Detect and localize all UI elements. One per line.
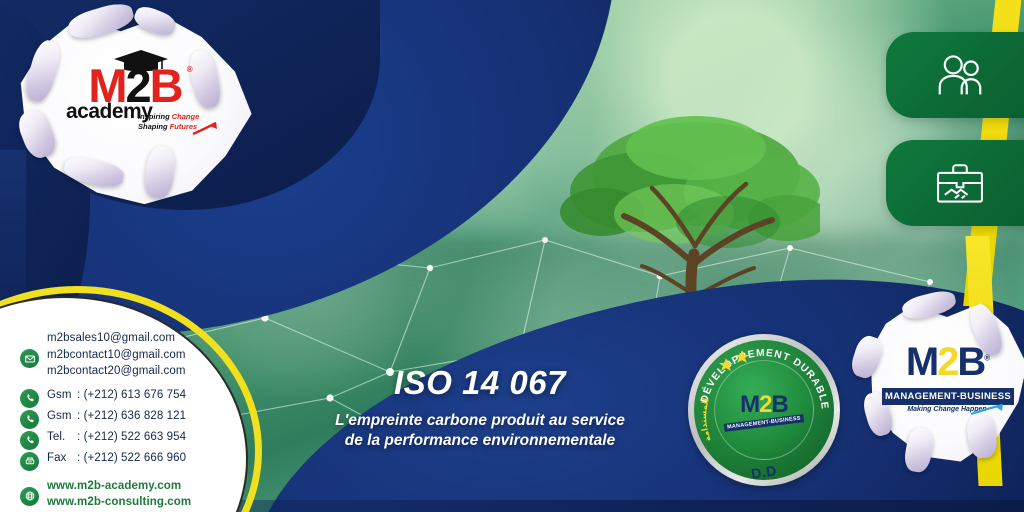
phone-text-3: Tel.: (+212) 522 663 954 (47, 429, 186, 446)
seal-brand: M2B MANAGEMENT-BUSINESS (724, 393, 804, 427)
fax-label: Fax (47, 450, 77, 467)
email-2[interactable]: m2bcontact10@gmail.com (47, 347, 186, 364)
registered-mark: ® (187, 66, 191, 74)
fax-sep: : (77, 452, 80, 464)
seal-letter-m: M (740, 391, 759, 418)
management-brand-text: M2B® (862, 342, 1024, 382)
fax-icon (20, 452, 39, 471)
academy-letter-b: B (150, 59, 182, 112)
phone-label-2: Gsm (47, 408, 77, 425)
academy-tagline-line-1: Inspiring Change (138, 112, 199, 122)
envelope-icon (20, 349, 39, 368)
sustainability-seal: DÉVELOPPEMENT DURABLE التنمية المستدامة … (688, 334, 840, 486)
fax-text: Fax: (+212) 522 666 960 (47, 450, 186, 467)
tagline-highlight-1: Change (172, 112, 200, 121)
phone-row-2: Gsm: (+212) 636 828 121 (20, 408, 270, 429)
phone-icon (20, 389, 39, 408)
arrow-icon (192, 122, 218, 136)
people-icon (933, 52, 987, 98)
mgmt-letter-b: B (957, 340, 984, 384)
phone-value-1[interactable]: (+212) 613 676 754 (84, 389, 187, 401)
phone-text-2: Gsm: (+212) 636 828 121 (47, 408, 186, 425)
mgmt-letter-2: 2 (937, 340, 957, 384)
torn-paper-sheet (862, 300, 1024, 470)
phone-sep-3: : (77, 431, 80, 443)
academy-logo: M2B® academy Inspiring Change Shaping Fu… (16, 14, 254, 206)
seal-letter-2: 2 (759, 391, 771, 418)
mgmt-letter-m: M (906, 340, 937, 384)
websites-row: www.m2b-academy.com www.m2b-consulting.c… (20, 478, 270, 511)
email-list: m2bsales10@gmail.com m2bcontact10@gmail.… (47, 330, 186, 380)
fax-value[interactable]: (+212) 522 666 960 (84, 452, 187, 464)
people-tab[interactable] (886, 32, 1024, 118)
spacer (20, 471, 270, 478)
globe-icon (20, 487, 39, 506)
page-title: ISO 14 067 (300, 364, 660, 402)
phone-icon (20, 431, 39, 450)
phone-value-3[interactable]: (+212) 522 663 954 (84, 431, 187, 443)
phone-value-2[interactable]: (+212) 636 828 121 (84, 410, 187, 422)
banner: m2bsales10@gmail.com m2bcontact10@gmail.… (0, 0, 1024, 512)
seal-inner-disc: M2B MANAGEMENT-BUSINESS (714, 360, 814, 460)
seal-letter-b: B (772, 391, 788, 418)
email-3[interactable]: m2bcontact20@gmail.com (47, 363, 186, 380)
email-1[interactable]: m2bsales10@gmail.com (47, 330, 186, 347)
page-subtitle: L'empreinte carbone produit au service d… (300, 411, 660, 451)
subtitle-line-2: de la performance environnementale (300, 431, 660, 451)
headline-block: ISO 14 067 L'empreinte carbone produit a… (300, 364, 660, 451)
fax-row: Fax: (+212) 522 666 960 (20, 450, 270, 471)
subtitle-line-1: L'empreinte carbone produit au service (300, 411, 660, 431)
management-logo: M2B® MANAGEMENT-BUSINESS Making Change H… (862, 300, 1024, 470)
website-list: www.m2b-academy.com www.m2b-consulting.c… (47, 478, 191, 511)
contact-emails-row: m2bsales10@gmail.com m2bcontact10@gmail.… (20, 330, 270, 380)
website-2[interactable]: www.m2b-consulting.com (47, 494, 191, 511)
academy-tagline-line-2: Shaping Futures (138, 122, 199, 132)
management-bar-text: MANAGEMENT-BUSINESS (882, 388, 1014, 405)
phone-sep-1: : (77, 389, 80, 401)
arrow-icon (970, 404, 1004, 416)
briefcase-handshake-icon (933, 160, 987, 206)
phone-row-1: Gsm: (+212) 613 676 754 (20, 387, 270, 408)
phone-sep-2: : (77, 410, 80, 422)
seal-brand-text: M2B (724, 393, 804, 417)
phone-icon (20, 410, 39, 429)
phone-text-1: Gsm: (+212) 613 676 754 (47, 387, 186, 404)
spacer (20, 380, 270, 387)
website-1[interactable]: www.m2b-academy.com (47, 478, 191, 495)
phone-label-3: Tel. (47, 429, 77, 446)
contact-block: m2bsales10@gmail.com m2bcontact10@gmail.… (20, 330, 270, 511)
academy-tagline: Inspiring Change Shaping Futures (138, 112, 199, 132)
registered-mark: ® (984, 354, 988, 363)
phone-label-1: Gsm (47, 387, 77, 404)
briefcase-handshake-tab[interactable] (886, 140, 1024, 226)
phone-row-3: Tel.: (+212) 522 663 954 (20, 429, 270, 450)
